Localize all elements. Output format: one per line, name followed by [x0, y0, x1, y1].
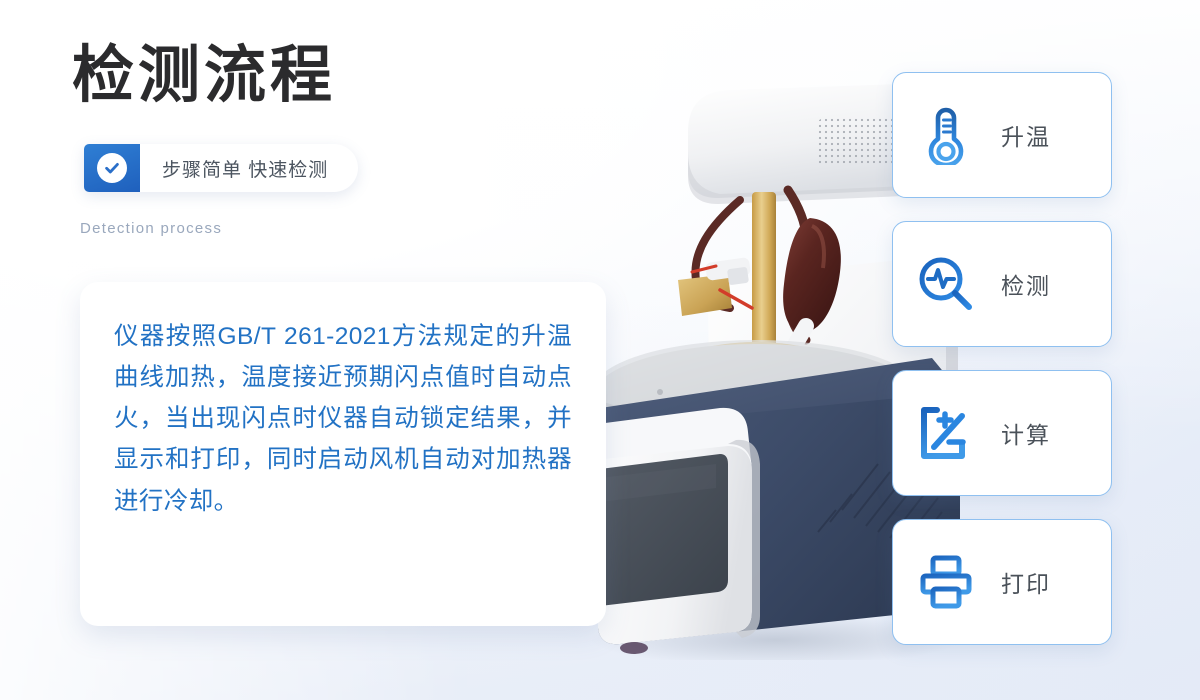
- magnifier-pulse-icon: [915, 253, 977, 315]
- tagline-badge: 步骤简单 快速检测: [84, 144, 358, 192]
- subtitle-english: Detection process: [80, 220, 222, 237]
- page-title: 检测流程: [72, 44, 336, 110]
- process-step-heating[interactable]: 升温: [892, 72, 1112, 198]
- calculate-icon: [915, 402, 977, 464]
- check-badge: [84, 144, 140, 192]
- instrument-foot: [620, 642, 648, 654]
- process-step-print[interactable]: 打印: [892, 519, 1112, 645]
- process-step-label: 升温: [1001, 118, 1051, 152]
- check-circle-icon: [97, 153, 127, 183]
- process-step-label: 检测: [1001, 267, 1051, 301]
- process-step-label: 打印: [1001, 565, 1051, 599]
- process-step-label: 计算: [1001, 416, 1051, 450]
- description-text: 仪器按照GB/T 261-2021方法规定的升温曲线加热，温度接近预期闪点值时自…: [114, 316, 572, 522]
- process-step-detection[interactable]: 检测: [892, 221, 1112, 347]
- description-card: 仪器按照GB/T 261-2021方法规定的升温曲线加热，温度接近预期闪点值时自…: [80, 282, 606, 626]
- tagline-text: 步骤简单 快速检测: [140, 144, 358, 192]
- process-step-calculate[interactable]: 计算: [892, 370, 1112, 496]
- printer-icon: [915, 551, 977, 613]
- process-step-list: 升温 检测: [892, 72, 1112, 645]
- thermometer-icon: [915, 104, 977, 166]
- promo-banner: 检测流程 步骤简单 快速检测 Detection process 仪器按照GB/…: [0, 0, 1200, 700]
